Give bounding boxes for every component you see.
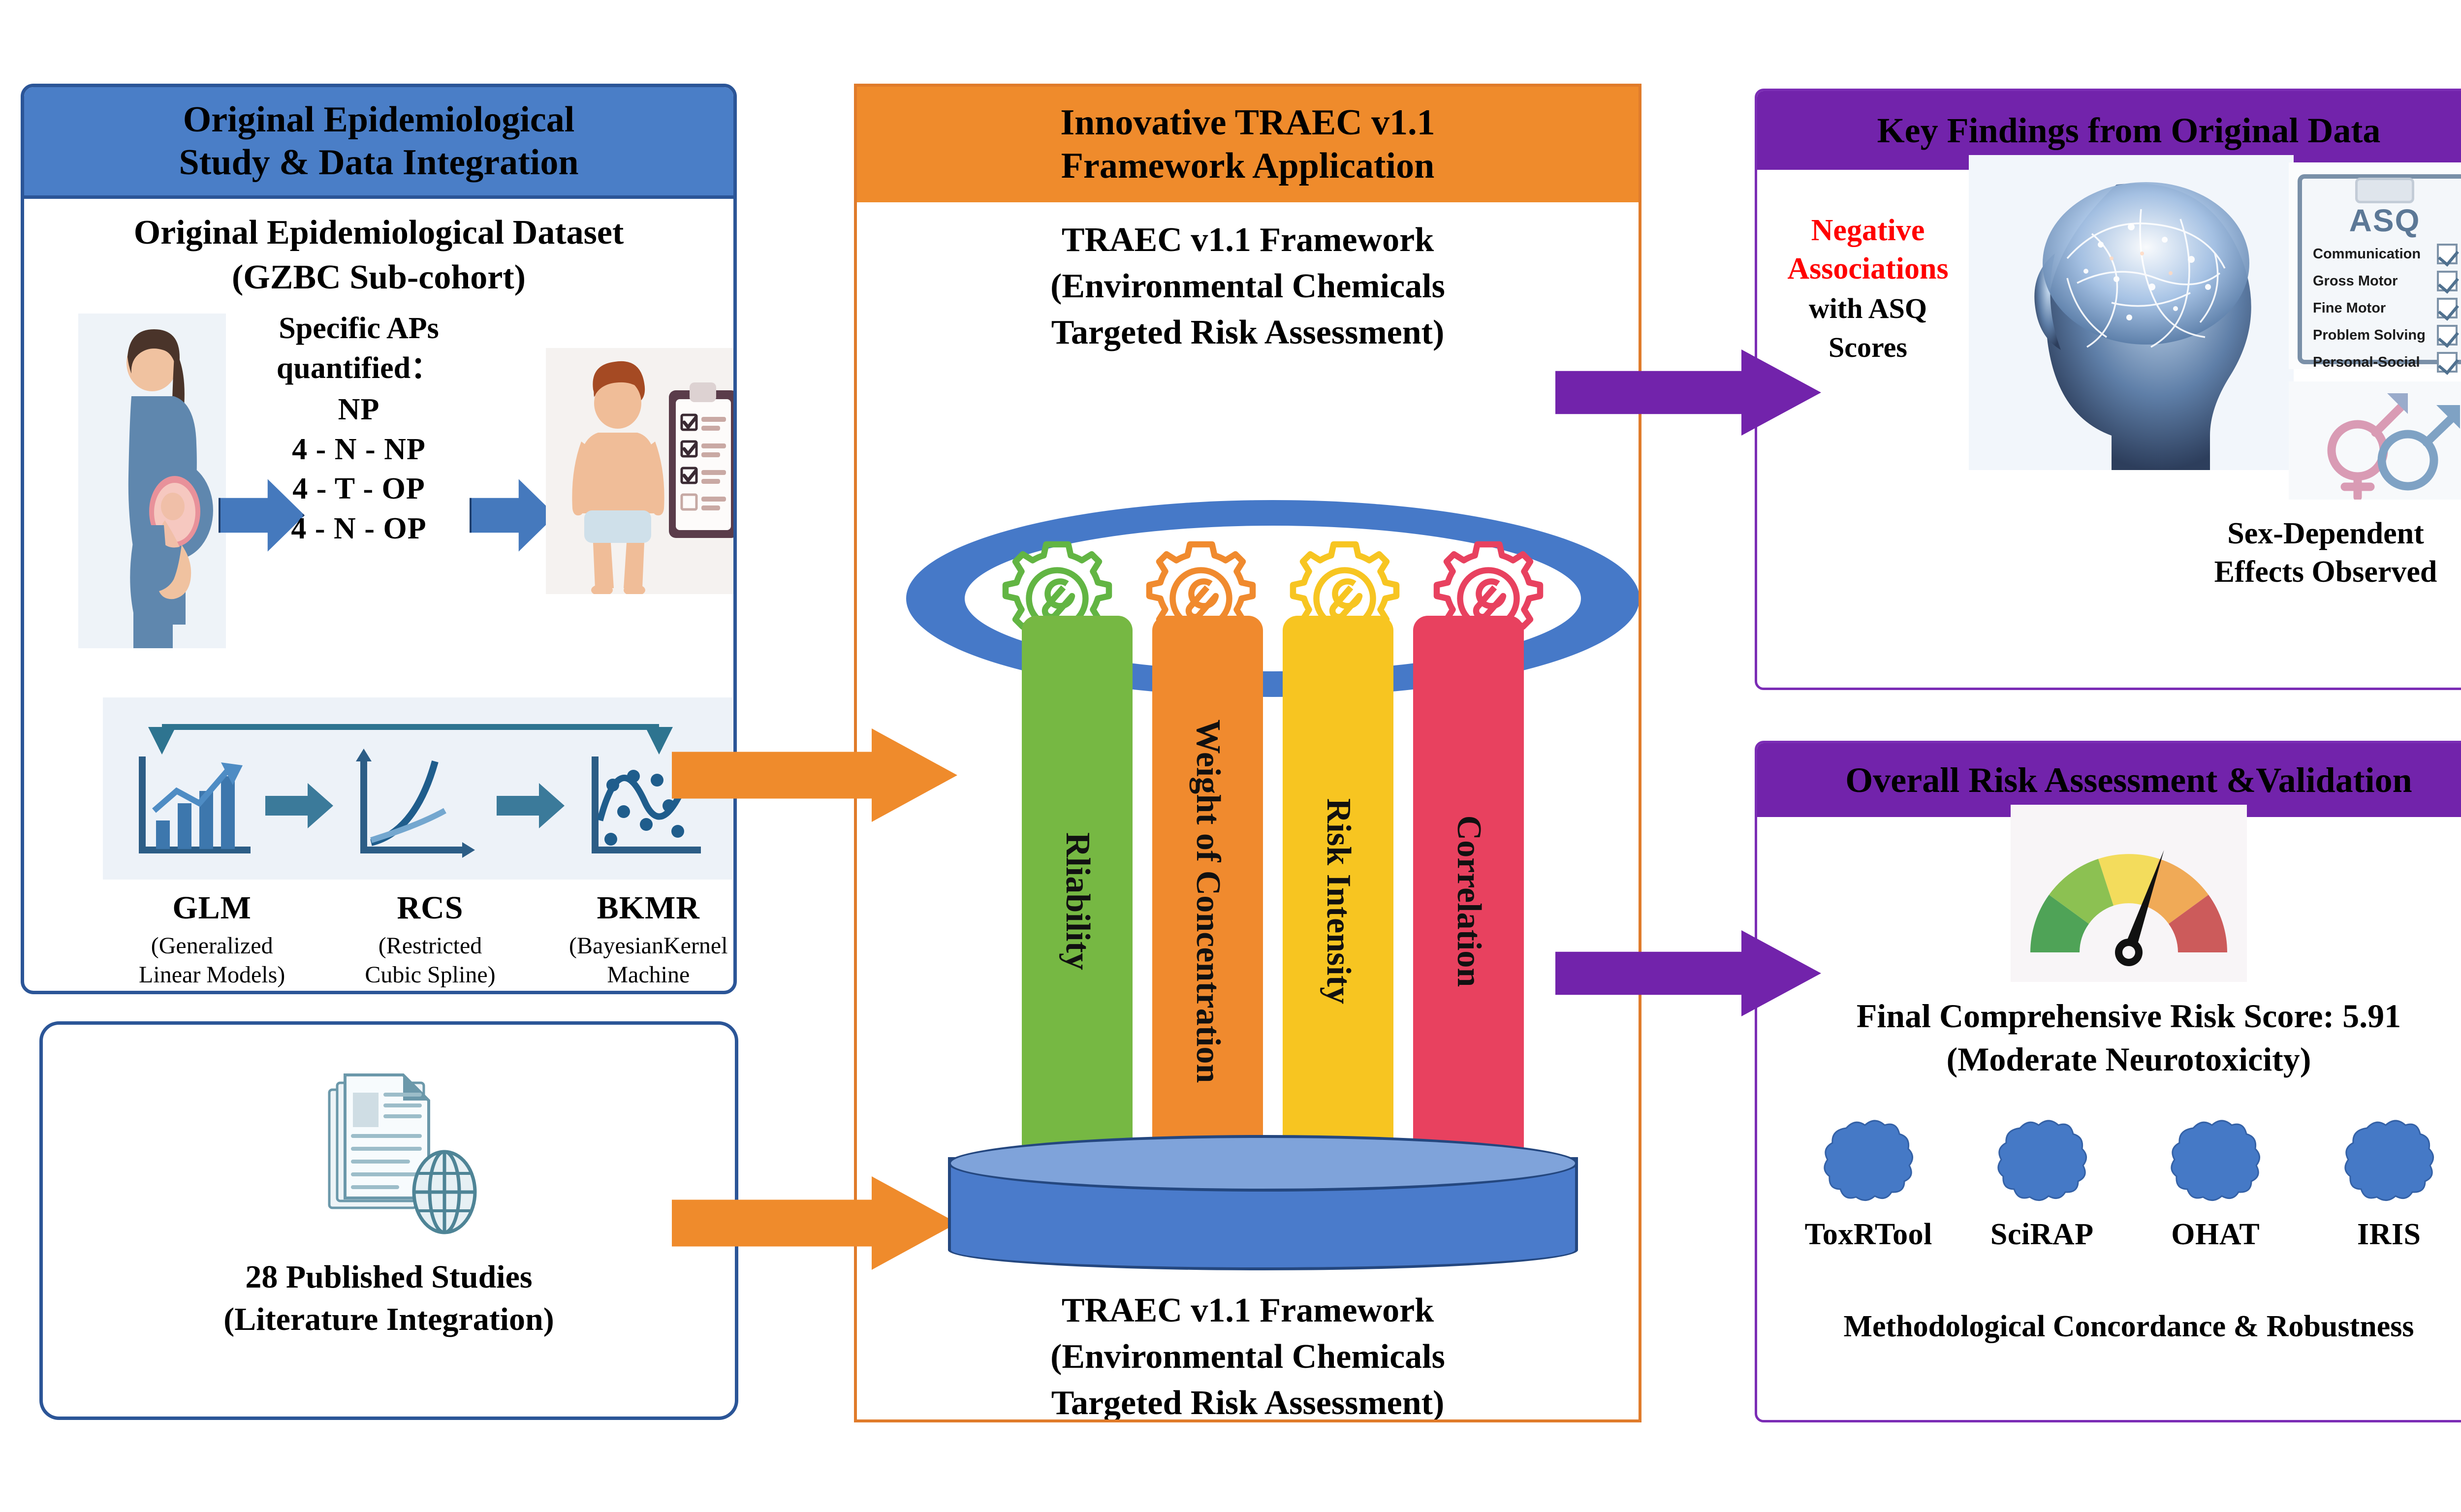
method-rcs-abbr: RCS	[321, 889, 539, 927]
validation-tool-ohat: OHAT	[2142, 1117, 2289, 1252]
framework-pillars: Rliability Weight of Concentration Risk …	[928, 616, 1617, 1187]
method-rcs-full-2: Cubic Spline)	[321, 961, 539, 990]
checkbox-checked-icon	[2437, 271, 2458, 291]
method-glm-full-2: Linear Models)	[103, 961, 321, 990]
arrow-study-to-framework	[672, 728, 957, 822]
pillar-reliability: Rliability	[1022, 616, 1133, 1187]
validation-tool-3-label: IRIS	[2315, 1217, 2461, 1252]
method-bkmr: BKMR (BayesianKernel Machine Regression)	[539, 889, 737, 994]
checkbox-checked-icon	[2437, 352, 2458, 373]
aps-list: NP 4 - N - NP 4 - T - OP 4 - N - OP	[255, 390, 462, 548]
asq-item-4-label: Personal-Social	[2313, 354, 2420, 371]
panel-traec-framework: Innovative TRAEC v1.1 Framework Applicat…	[854, 84, 1641, 1422]
method-glm: GLM (Generalized Linear Models)	[103, 889, 321, 994]
traec-header-line-1: Innovative TRAEC v1.1	[1060, 101, 1435, 144]
overall-risk-header-text: Overall Risk Assessment &Validation	[1845, 759, 2412, 801]
cloud-icon	[1817, 1204, 1920, 1213]
asq-row-problem-solving: Problem Solving	[2313, 325, 2458, 346]
method-rcs: RCS (Restricted Cubic Spline)	[321, 889, 539, 994]
asq-title: ASQ	[2302, 202, 2461, 239]
sex-dep-line-1: Sex-Dependent	[2171, 514, 2461, 553]
sex-dependent-text: Sex-Dependent Effects Observed	[2171, 514, 2461, 591]
literature-line-1: 28 Published Studies	[43, 1256, 735, 1298]
header-line-2: Study & Data Integration	[179, 141, 579, 184]
traec-title-top: TRAEC v1.1 Framework (Environmental Chem…	[877, 217, 1619, 355]
neg-line-3: with ASQ	[1779, 291, 1956, 327]
risk-score-line-1: Final Comprehensive Risk Score: 5.91	[1767, 994, 2461, 1038]
panel-original-study-header: Original Epidemiological Study & Data In…	[24, 87, 733, 199]
concordance-text: Methodological Concordance & Robustness	[1767, 1309, 2461, 1344]
method-glm-full-1: (Generalized	[103, 932, 321, 961]
statistical-methods-labels: GLM (Generalized Linear Models) RCS (Res…	[103, 889, 737, 994]
traec-bottom-line-1: TRAEC v1.1 Framework	[877, 1288, 1619, 1334]
clipboard-frame: ASQ Communication Gross Motor Fine Motor…	[2298, 174, 2461, 364]
negative-associations-text: Negative Associations with ASQ Scores	[1779, 212, 1956, 365]
traec-header-line-2: Framework Application	[1061, 145, 1434, 188]
cloud-icon	[1990, 1204, 2094, 1213]
sex-dep-line-2: Effects Observed	[2171, 553, 2461, 591]
ap-item-3: 4 - N - OP	[255, 509, 462, 549]
validation-tool-toxrtool: ToxRTool	[1795, 1117, 1942, 1252]
aps-quantified-block: Specific APs quantified： NP 4 - N - NP 4…	[255, 309, 462, 549]
sex-symbols-icon	[2289, 381, 2461, 500]
arrow-literature-to-framework	[672, 1176, 957, 1270]
framework-base-cylinder	[948, 1135, 1578, 1292]
validation-tool-iris: IRIS	[2315, 1117, 2461, 1252]
method-bkmr-abbr: BKMR	[539, 889, 737, 927]
asq-row-personal-social: Personal-Social	[2313, 352, 2458, 373]
arrow-aps-to-child	[470, 476, 556, 555]
ap-item-0: NP	[255, 390, 462, 430]
pillar-reliability-label: Rliability	[1058, 832, 1097, 970]
panel-key-findings: Key Findings from Original Data Negative…	[1755, 89, 2461, 690]
asq-item-0-label: Communication	[2313, 246, 2421, 262]
method-bkmr-full-2: Machine	[539, 961, 737, 990]
clipboard-clip-icon	[2355, 178, 2414, 203]
pillar-weight-of-concentration-label: Weight of Concentration	[1188, 680, 1228, 1123]
asq-row-fine-motor: Fine Motor	[2313, 298, 2458, 318]
pillar-risk-intensity: Risk Intensity	[1283, 616, 1393, 1187]
cloud-icon	[2337, 1204, 2441, 1213]
pillar-weight-of-concentration: Weight of Concentration	[1152, 616, 1263, 1187]
pregnant-woman-icon	[78, 314, 226, 648]
pillar-correlation: Correlation	[1413, 616, 1524, 1187]
method-bkmr-full-3: Regression)	[539, 989, 737, 994]
literature-line-2: (Literature Integration)	[43, 1298, 735, 1341]
panel-traec-header: Innovative TRAEC v1.1 Framework Applicat…	[857, 87, 1639, 202]
literature-globe-icon	[318, 1064, 481, 1236]
traec-bottom-line-3: Targeted Risk Assessment)	[877, 1380, 1619, 1422]
asq-item-2-label: Fine Motor	[2313, 300, 2386, 316]
risk-score-text: Final Comprehensive Risk Score: 5.91 (Mo…	[1767, 994, 2461, 1081]
dataset-line-2: (GZBC Sub-cohort)	[24, 255, 733, 300]
aps-head-line-1: Specific APs	[255, 309, 462, 348]
traec-bottom-line-2: (Environmental Chemicals	[877, 1334, 1619, 1380]
method-bkmr-full-1: (BayesianKernel	[539, 932, 737, 961]
dataset-title: Original Epidemiological Dataset (GZBC S…	[24, 210, 733, 300]
pillar-risk-intensity-label: Risk Intensity	[1319, 798, 1358, 1004]
checkbox-checked-icon	[2437, 244, 2458, 264]
validation-tool-0-label: ToxRTool	[1795, 1217, 1942, 1252]
asq-row-gross-motor: Gross Motor	[2313, 271, 2458, 291]
validation-tool-scirap: SciRAP	[1968, 1117, 2116, 1252]
header-line-1: Original Epidemiological	[183, 98, 575, 141]
risk-gauge-chart	[2011, 805, 2247, 982]
validation-tool-2-label: OHAT	[2142, 1217, 2289, 1252]
literature-text: 28 Published Studies (Literature Integra…	[43, 1256, 735, 1341]
traec-top-line-1: TRAEC v1.1 Framework	[877, 217, 1619, 263]
neg-line-2: Associations	[1779, 250, 1956, 288]
asq-checklist: Communication Gross Motor Fine Motor Pro…	[2313, 244, 2458, 379]
cloud-icon	[2164, 1204, 2267, 1213]
asq-item-1-label: Gross Motor	[2313, 273, 2398, 289]
traec-top-line-3: Targeted Risk Assessment)	[877, 310, 1619, 356]
key-findings-header-text: Key Findings from Original Data	[1877, 110, 2381, 152]
child-assessment-icon	[546, 348, 737, 594]
traec-top-line-2: (Environmental Chemicals	[877, 263, 1619, 310]
arrow-framework-to-findings	[1555, 349, 1821, 436]
validation-tool-1-label: SciRAP	[1968, 1217, 2116, 1252]
checkbox-checked-icon	[2437, 298, 2458, 318]
method-rcs-full-1: (Restricted	[321, 932, 539, 961]
traec-title-bottom: TRAEC v1.1 Framework (Environmental Chem…	[877, 1288, 1619, 1422]
ap-item-1: 4 - N - NP	[255, 430, 462, 470]
risk-score-line-2: (Moderate Neurotoxicity)	[1767, 1038, 2461, 1081]
asq-row-communication: Communication	[2313, 244, 2458, 264]
validation-tools-row: ToxRTool SciRAP OHAT IR	[1782, 1117, 2461, 1252]
neg-line-1: Negative	[1779, 212, 1956, 250]
asq-item-3-label: Problem Solving	[2313, 327, 2426, 344]
brain-head-icon	[1969, 155, 2294, 470]
panel-published-studies: 28 Published Studies (Literature Integra…	[39, 1021, 738, 1420]
panel-original-study: Original Epidemiological Study & Data In…	[21, 84, 737, 994]
checkbox-checked-icon	[2437, 325, 2458, 346]
method-glm-abbr: GLM	[103, 889, 321, 927]
ap-item-2: 4 - T - OP	[255, 469, 462, 509]
panel-overall-risk: Overall Risk Assessment &Validation Fina…	[1755, 741, 2461, 1422]
aps-head-line-2: quantified：	[255, 348, 462, 388]
asq-clipboard: ASQ Communication Gross Motor Fine Motor…	[2289, 162, 2461, 369]
cylinder-top	[948, 1135, 1578, 1192]
statistical-methods-illustration	[103, 697, 733, 880]
dataset-line-1: Original Epidemiological Dataset	[24, 210, 733, 255]
pillar-correlation-label: Correlation	[1449, 816, 1488, 987]
